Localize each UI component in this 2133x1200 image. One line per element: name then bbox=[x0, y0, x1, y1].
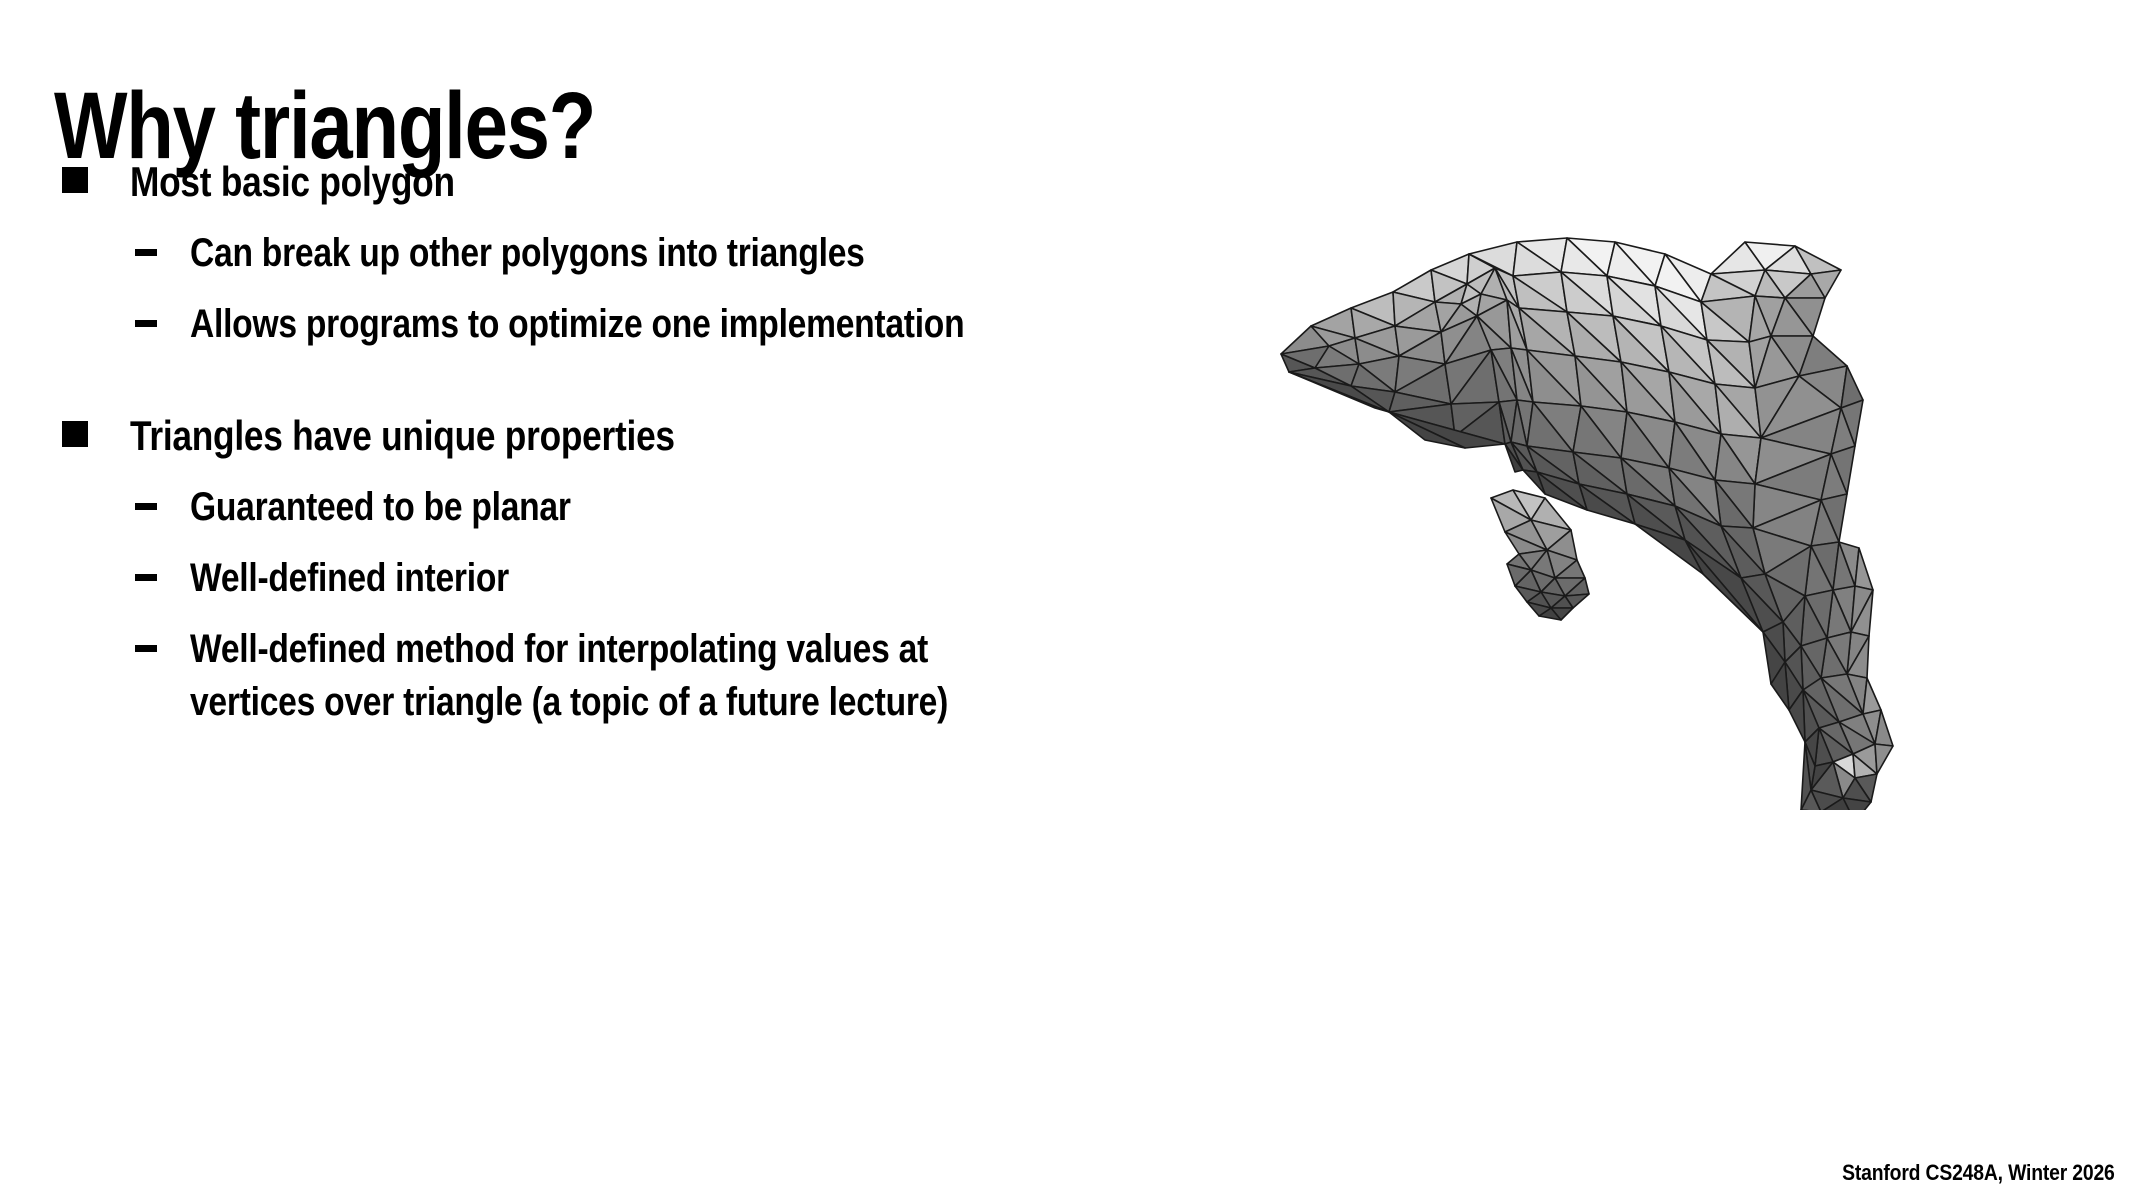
dash-bullet-icon bbox=[135, 574, 157, 581]
dash-bullet-icon bbox=[135, 645, 157, 652]
list-item: Guaranteed to be planar bbox=[0, 481, 1260, 534]
square-bullet-icon bbox=[62, 167, 88, 193]
slide-root: Why triangles? Most basic polygon Can br… bbox=[0, 0, 2133, 1200]
square-bullet-icon bbox=[62, 421, 88, 447]
list-item: Allows programs to optimize one implemen… bbox=[0, 298, 1260, 351]
list-item-label: Most basic polygon bbox=[130, 155, 455, 209]
list-item: Triangles have unique properties bbox=[0, 409, 1260, 463]
list-item: Can break up other polygons into triangl… bbox=[0, 227, 1260, 280]
list-item-label: Can break up other polygons into triangl… bbox=[190, 227, 865, 280]
bullet-list: Most basic polygon Can break up other po… bbox=[0, 155, 1260, 748]
dash-bullet-icon bbox=[135, 503, 157, 510]
dash-bullet-icon bbox=[135, 249, 157, 256]
list-item-label: Well-defined interior bbox=[190, 552, 509, 605]
dolphin-mesh-figure bbox=[1255, 150, 1975, 810]
list-item-label: Allows programs to optimize one implemen… bbox=[190, 298, 964, 351]
list-item: Well-defined interior bbox=[0, 552, 1260, 605]
dolphin-triangle-mesh-svg bbox=[1255, 150, 1975, 810]
list-item-label: Well-defined method for interpolating va… bbox=[190, 623, 948, 729]
slide-footer: Stanford CS248A, Winter 2026 bbox=[1843, 1160, 2115, 1186]
list-item-label: Triangles have unique properties bbox=[130, 409, 675, 463]
list-item: Well-defined method for interpolating va… bbox=[0, 623, 1260, 729]
list-item-label: Guaranteed to be planar bbox=[190, 481, 571, 534]
list-item: Most basic polygon bbox=[0, 155, 1260, 209]
dash-bullet-icon bbox=[135, 320, 157, 327]
